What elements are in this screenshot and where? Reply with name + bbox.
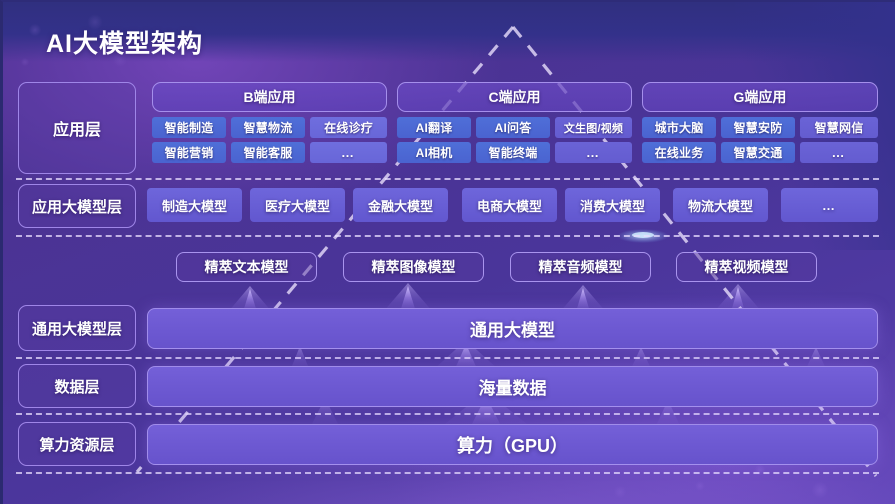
app-cell-g-3-1[interactable]: 智慧网信 [800, 117, 878, 138]
layer-label-general-model: 通用大模型层 [18, 305, 136, 351]
app-model-item-2[interactable]: 医疗大模型 [250, 188, 345, 222]
app-cell-c-3-1[interactable]: 文生图/视频 [555, 117, 632, 138]
app-model-item-5[interactable]: 消费大模型 [565, 188, 660, 222]
distilled-model-video[interactable]: 精萃视频模型 [676, 252, 817, 282]
data-layer-bar[interactable]: 海量数据 [147, 366, 878, 407]
layer-separator-1 [16, 178, 879, 180]
app-cell-g-2-1[interactable]: 智慧安防 [721, 117, 795, 138]
app-cell-g-1-2[interactable]: 在线业务 [642, 142, 716, 163]
app-cell-c-1-1[interactable]: AI翻译 [397, 117, 471, 138]
app-cell-c-2-1[interactable]: AI问答 [476, 117, 550, 138]
app-cell-b-3-2[interactable]: … [310, 142, 387, 163]
group-header-b-end: B端应用 [152, 82, 387, 112]
app-cell-b-2-2[interactable]: 智能客服 [231, 142, 305, 163]
app-model-item-4[interactable]: 电商大模型 [462, 188, 557, 222]
layer-label-application: 应用层 [18, 82, 136, 174]
distilled-model-audio[interactable]: 精萃音频模型 [510, 252, 651, 282]
layer-label-application-model: 应用大模型层 [18, 184, 136, 228]
diagram-canvas: AI大模型架构 应用层 应用大模型层 通用大模型层 数据层 算力资源层 B端应用… [0, 0, 895, 504]
app-model-item-3[interactable]: 金融大模型 [353, 188, 448, 222]
app-cell-c-3-2[interactable]: … [555, 142, 632, 163]
layer-separator-4 [16, 413, 879, 415]
distilled-model-image[interactable]: 精萃图像模型 [343, 252, 484, 282]
app-cell-g-1-1[interactable]: 城市大脑 [642, 117, 716, 138]
app-cell-g-2-2[interactable]: 智慧交通 [721, 142, 795, 163]
group-header-g-end: G端应用 [642, 82, 878, 112]
app-cell-g-3-2[interactable]: … [800, 142, 878, 163]
distilled-model-text[interactable]: 精萃文本模型 [176, 252, 317, 282]
layer-separator-5 [16, 472, 879, 474]
page-title: AI大模型架构 [46, 24, 203, 60]
layer-label-compute: 算力资源层 [18, 422, 136, 466]
layer-separator-3 [16, 357, 879, 359]
app-cell-c-1-2[interactable]: AI相机 [397, 142, 471, 163]
group-header-c-end: C端应用 [397, 82, 632, 112]
app-model-item-1[interactable]: 制造大模型 [147, 188, 242, 222]
app-model-item-7[interactable]: … [781, 188, 878, 222]
layer-label-data: 数据层 [18, 364, 136, 408]
compute-layer-bar[interactable]: 算力（GPU） [147, 424, 878, 465]
app-cell-b-1-2[interactable]: 智能营销 [152, 142, 226, 163]
app-cell-c-2-2[interactable]: 智能终端 [476, 142, 550, 163]
app-cell-b-3-1[interactable]: 在线诊疗 [310, 117, 387, 138]
app-cell-b-1-1[interactable]: 智能制造 [152, 117, 226, 138]
general-model-bar[interactable]: 通用大模型 [147, 308, 878, 349]
layer-separator-2 [16, 235, 879, 237]
app-cell-b-2-1[interactable]: 智慧物流 [231, 117, 305, 138]
app-model-item-6[interactable]: 物流大模型 [673, 188, 768, 222]
